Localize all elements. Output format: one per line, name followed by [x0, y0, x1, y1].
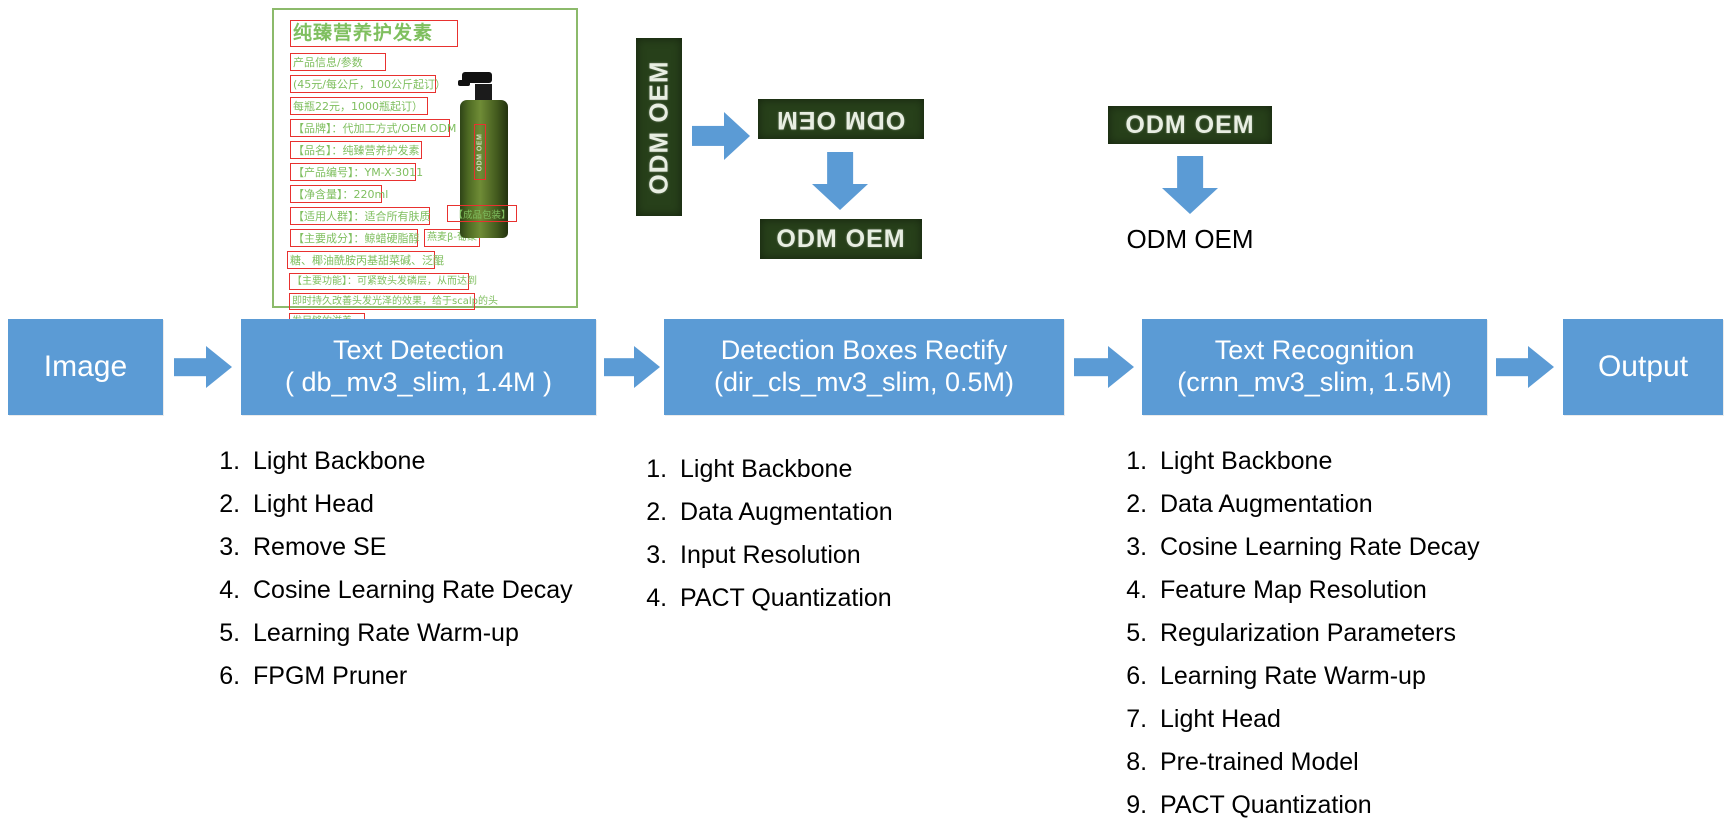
feature-item: Input Resolution [674, 534, 893, 577]
feature-item: Cosine Learning Rate Decay [247, 569, 573, 612]
ocr-text-box: 即时持久改善头发光泽的效果，给于scalp的头 [289, 293, 475, 310]
feature-item: Light Head [1154, 698, 1480, 741]
ocr-text-box-finished-package: 【成品包装】 [447, 205, 517, 222]
recognition-input-text: ODM OEM [1125, 111, 1254, 140]
arrow-down-to-recognized-text [1162, 156, 1218, 214]
feature-item: Light Backbone [674, 448, 893, 491]
pipeline-box-output[interactable]: Output [1563, 319, 1723, 415]
ocr-text-box: 【品名】：纯臻营养护发素 [290, 141, 422, 159]
feature-item: Data Augmentation [1154, 483, 1480, 526]
ocr-text-box: (45元/每公斤，100公斤起订） [290, 75, 436, 93]
recognition-title: Text Recognition [1215, 335, 1415, 367]
rectified-crop-text: ODM OEM [776, 225, 905, 254]
feature-item: Learning Rate Warm-up [247, 612, 573, 655]
ocr-text-box: 【主要成分】：鲸蜡硬脂醇 [290, 229, 418, 247]
ocr-text-box: 纯臻营养护发素 [290, 20, 458, 47]
ocr-text-box: 每瓶22元，1000瓶起订） [290, 97, 428, 115]
ocr-text-box: 【产品编号】：YM-X-3011 [290, 163, 416, 181]
sample-ocr-image: 纯臻营养护发素 产品信息/参数 (45元/每公斤，100公斤起订） 每瓶22元，… [272, 8, 578, 308]
feature-item: FPGM Pruner [247, 655, 573, 698]
bottle-spout-icon [458, 80, 470, 86]
arrow-rectify-to-recognition [1074, 346, 1134, 388]
pipeline-box-output-label: Output [1598, 349, 1688, 384]
feature-item: Light Backbone [247, 440, 573, 483]
recognition-model: (crnn_mv3_slim, 1.5M) [1177, 367, 1452, 399]
pipeline-box-detection-boxes-rectify[interactable]: Detection Boxes Rectify (dir_cls_mv3_sli… [664, 319, 1064, 415]
rotated-crop-text: ODM OEM [776, 105, 905, 134]
detection-model: ( db_mv3_slim, 1.4M ) [285, 367, 552, 399]
recognition-feature-items: Light BackboneData AugmentationCosine Le… [1112, 440, 1480, 827]
feature-item: PACT Quantization [1154, 784, 1480, 827]
arrow-recognition-to-output [1496, 346, 1554, 388]
feature-item: Remove SE [247, 526, 573, 569]
rectified-text-crop: ODM OEM [760, 219, 922, 259]
detection-title: Text Detection [333, 335, 504, 367]
vertical-crop-text: ODM OEM [644, 60, 675, 194]
rectify-model: (dir_cls_mv3_slim, 0.5M) [714, 367, 1014, 399]
pipeline-box-text-detection[interactable]: Text Detection ( db_mv3_slim, 1.4M ) [241, 319, 596, 415]
feature-item: Light Head [247, 483, 573, 526]
arrow-detection-to-rectify [604, 346, 660, 388]
rectify-title: Detection Boxes Rectify [721, 335, 1008, 367]
feature-item: Feature Map Resolution [1154, 569, 1480, 612]
pipeline-box-image-label: Image [44, 349, 127, 384]
detection-feature-items: Light BackboneLight HeadRemove SECosine … [205, 440, 573, 698]
feature-item: PACT Quantization [674, 577, 893, 620]
bottle-label-text: ODM OEM [477, 133, 484, 171]
recognition-feature-list: Light BackboneData AugmentationCosine Le… [1112, 440, 1480, 827]
ocr-text-box: 产品信息/参数 [290, 53, 386, 71]
detection-feature-list: Light BackboneLight HeadRemove SECosine … [205, 440, 573, 698]
ocr-text-box: 【主要功能】：可紧致头发磷层，从而达到 [289, 273, 469, 290]
rectify-feature-list: Light BackboneData AugmentationInput Res… [632, 448, 893, 620]
ocr-text-box-bottle-label: ODM OEM [474, 124, 486, 180]
recognition-output-text: ODM OEM [1108, 222, 1272, 256]
rectify-feature-items: Light BackboneData AugmentationInput Res… [632, 448, 893, 620]
ocr-text-box: 【净含量】：220ml [290, 185, 382, 203]
feature-item: Light Backbone [1154, 440, 1480, 483]
pipeline-box-image[interactable]: Image [8, 319, 163, 415]
arrow-image-to-detection [174, 346, 232, 388]
feature-item: Cosine Learning Rate Decay [1154, 526, 1480, 569]
ocr-text-box: 【适用人群】：适合所有肤质 [290, 207, 430, 225]
vertical-text-crop: ODM OEM [636, 38, 682, 216]
diagram-canvas: 纯臻营养护发素 产品信息/参数 (45元/每公斤，100公斤起订） 每瓶22元，… [0, 0, 1736, 832]
rotated-text-crop: ODM OEM [758, 99, 924, 139]
arrow-right-to-rotated [692, 112, 750, 160]
feature-item: Regularization Parameters [1154, 612, 1480, 655]
recognition-input-crop: ODM OEM [1108, 106, 1272, 144]
feature-item: Pre-trained Model [1154, 741, 1480, 784]
ocr-text-box: 【品牌】：代加工方式/OEM ODM [290, 119, 450, 137]
pipeline-box-text-recognition[interactable]: Text Recognition (crnn_mv3_slim, 1.5M) [1142, 319, 1487, 415]
arrow-down-to-rectified [812, 152, 868, 210]
feature-item: Learning Rate Warm-up [1154, 655, 1480, 698]
ocr-text-box: 糖、椰油酰胺丙基甜菜碱、泛醌 [287, 251, 435, 269]
feature-item: Data Augmentation [674, 491, 893, 534]
